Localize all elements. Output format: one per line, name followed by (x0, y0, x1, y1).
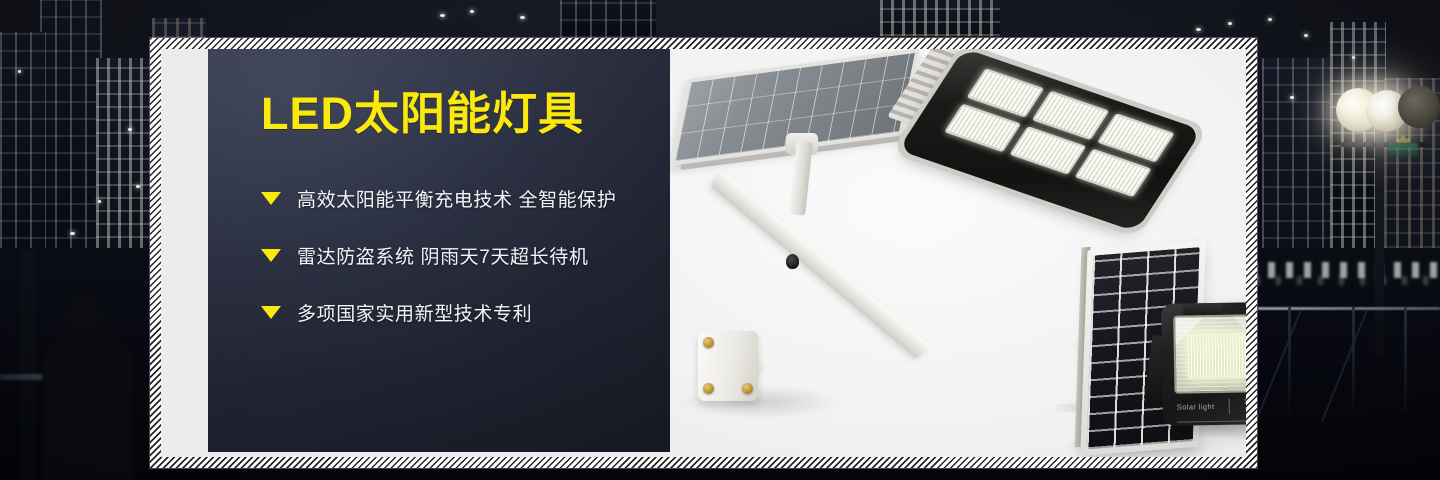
skyline-building (40, 0, 102, 290)
city-light-dot (1228, 22, 1232, 25)
city-light-dot (1290, 96, 1294, 99)
flood-light-top-tab (1183, 303, 1223, 316)
person-silhouette (42, 330, 134, 480)
page-title: LED太阳能灯具 (261, 91, 670, 136)
foreground-pole (20, 250, 36, 480)
flood-light-label: Solar light 100W IP67 (1177, 398, 1246, 415)
flood-light-housing: Solar light 100W IP67 (1161, 302, 1246, 426)
railing-post (1352, 307, 1355, 412)
feature-text: 雷达防盗系统 阴雨天7天超长待机 (297, 242, 588, 269)
feature-text: 多项国家实用新型技术专利 (297, 299, 532, 326)
copy-panel: LED太阳能灯具 高效太阳能平衡充电技术 全智能保护 雷达防盗系统 阴雨天7天超… (208, 49, 670, 452)
skyline-building (560, 0, 656, 38)
street-lamp-pole (1375, 118, 1384, 354)
label-divider (1229, 399, 1230, 414)
led-cob-chip (1187, 332, 1246, 379)
street-lamp-globe (1398, 86, 1440, 128)
flood-light-lens (1173, 314, 1246, 393)
city-light-dot (18, 70, 21, 73)
list-item: 雷达防盗系统 阴雨天7天超长待机 (261, 242, 670, 269)
city-light-dot (98, 200, 101, 203)
city-light-dot (136, 185, 140, 188)
label-underline (1177, 420, 1246, 423)
banner-content: LED太阳能灯具 高效太阳能平衡充电技术 全智能保护 雷达防盗系统 阴雨天7天超… (161, 49, 1246, 457)
product-stage: Solar light 100W IP67 (670, 49, 1246, 457)
triangle-down-icon (261, 249, 281, 262)
list-item: 多项国家实用新型技术专利 (261, 299, 670, 326)
feature-text: 高效太阳能平衡充电技术 全智能保护 (297, 185, 616, 212)
bolt-icon (742, 383, 753, 394)
flood-light-power: 100W (1244, 398, 1246, 405)
railing-post (1404, 307, 1407, 412)
city-light-dot (1196, 28, 1201, 31)
city-light-dot (440, 14, 445, 17)
city-light-dot (520, 16, 525, 19)
led-lamp-head (898, 49, 1203, 232)
city-light-dot (1304, 34, 1308, 37)
feature-list: 高效太阳能平衡充电技术 全智能保护 雷达防盗系统 阴雨天7天超长待机 多项国家实… (261, 185, 670, 326)
bolt-icon (703, 337, 714, 348)
flood-light-spec: 100W IP67 (1244, 398, 1246, 414)
wall-mount-bracket (698, 331, 758, 401)
city-light-dot (1268, 18, 1272, 21)
city-light-dot (470, 10, 474, 13)
rooftop-sign (1388, 143, 1418, 157)
flood-light-brand-text: Solar light (1177, 402, 1215, 412)
list-item: 高效太阳能平衡充电技术 全智能保护 (261, 185, 670, 212)
triangle-down-icon (261, 192, 281, 205)
solar-flood-light-product: Solar light 100W IP67 (1151, 292, 1246, 434)
railing-post (1288, 307, 1291, 412)
bolt-icon (703, 383, 714, 394)
city-light-dot (1352, 56, 1355, 59)
city-light-dot (128, 128, 132, 131)
waterfront-railing (1258, 307, 1440, 310)
skyline-building (880, 0, 1000, 36)
city-light-dot (70, 232, 75, 235)
triangle-down-icon (261, 306, 281, 319)
light-sensor-icon (786, 254, 799, 269)
hero-banner: LED太阳能灯具 高效太阳能平衡充电技术 全智能保护 雷达防盗系统 阴雨天7天超… (0, 0, 1440, 480)
